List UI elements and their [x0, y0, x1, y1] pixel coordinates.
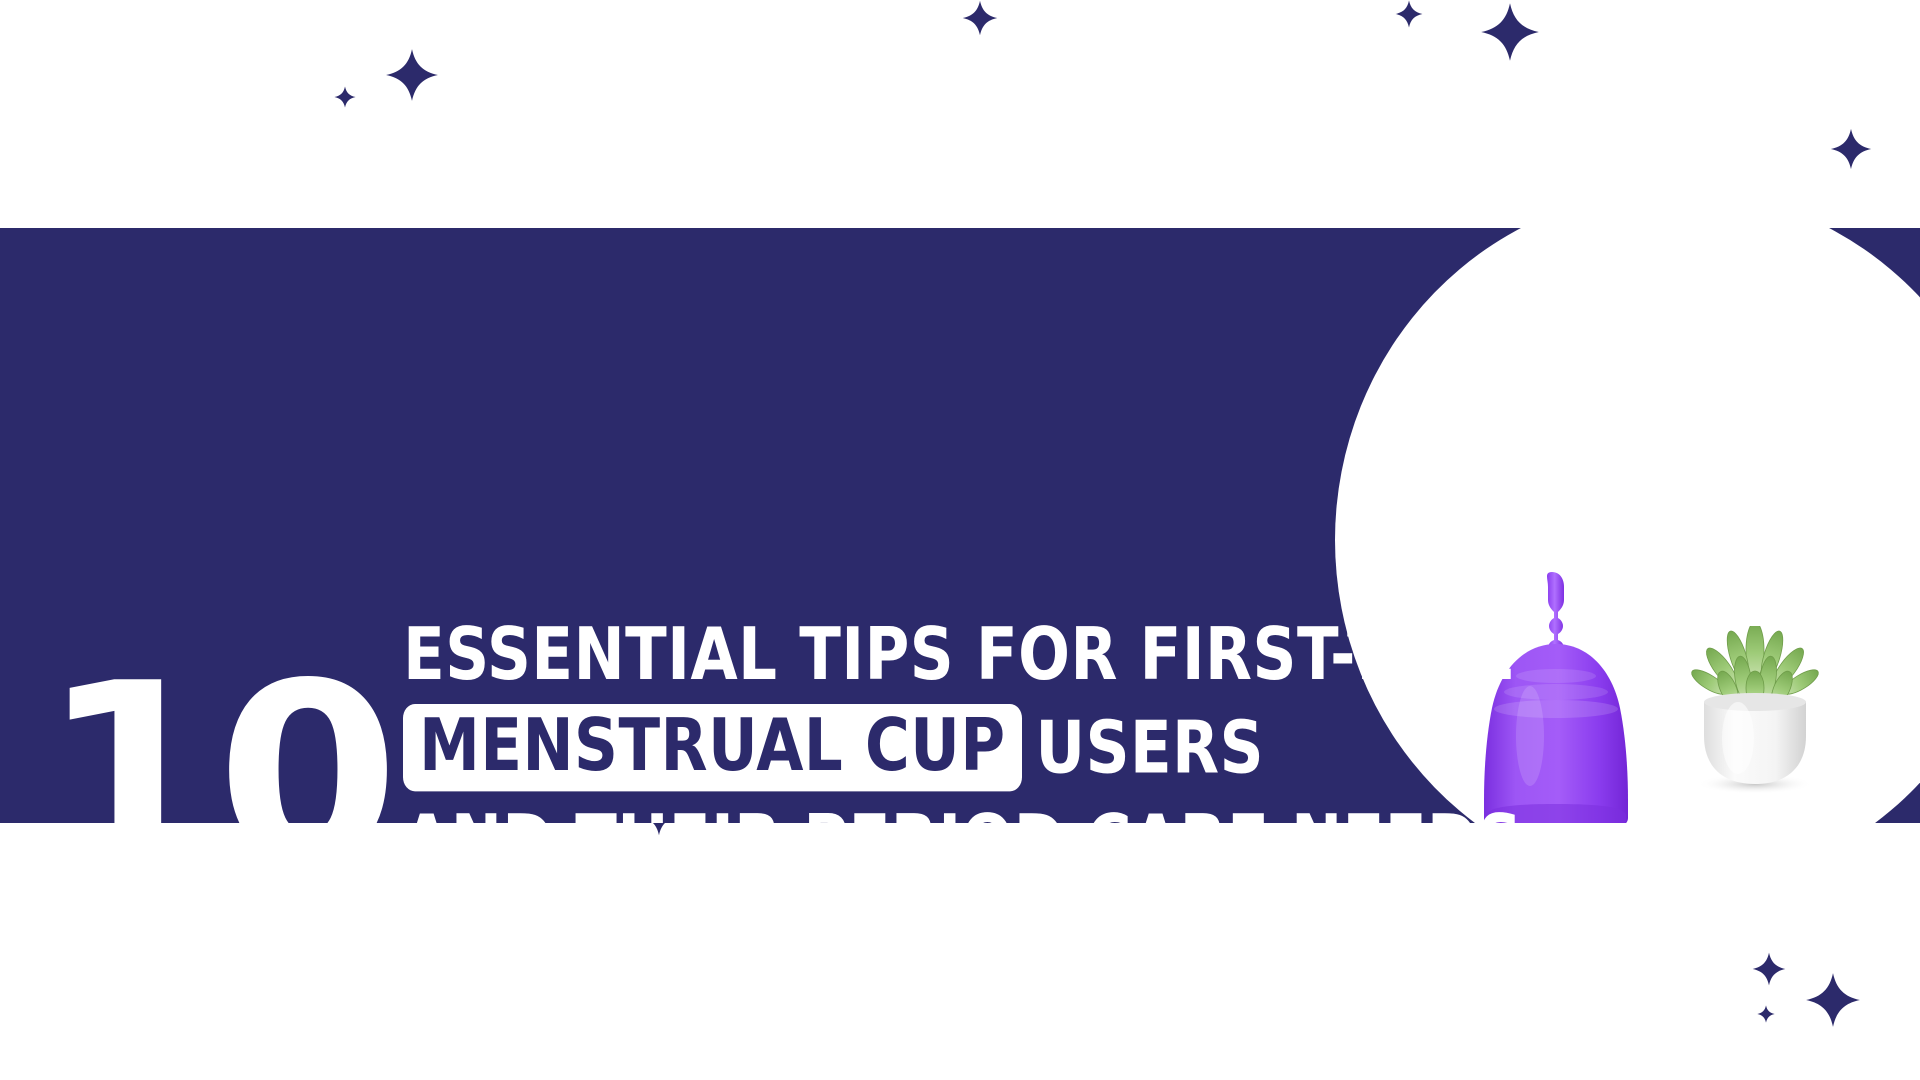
four-point-star-sparkle — [962, 0, 998, 36]
four-point-star-sparkle — [1480, 2, 1540, 62]
four-point-star-sparkle — [1830, 128, 1872, 170]
headline-highlight-chip: MENSTRUAL CUP — [403, 704, 1021, 791]
headline-block: 10 ESSENTIAL TIPS FOR FIRST-TIME MENSTRU… — [40, 558, 1360, 823]
hero-banner: 10 ESSENTIAL TIPS FOR FIRST-TIME MENSTRU… — [0, 228, 1920, 823]
headline-line-1: ESSENTIAL TIPS FOR FIRST-TIME — [403, 619, 1522, 691]
headline-line-3: AND THEIR PERIOD CARE NEEDS — [403, 806, 1522, 824]
headline-lines: ESSENTIAL TIPS FOR FIRST-TIME MENSTRUAL … — [387, 619, 1522, 824]
four-point-star-sparkle — [334, 86, 356, 108]
four-point-star-sparkle — [385, 48, 439, 102]
poster-canvas: 10 ESSENTIAL TIPS FOR FIRST-TIME MENSTRU… — [0, 0, 1920, 1080]
potted-succulent-illustration — [1680, 626, 1830, 796]
four-point-star-sparkle — [1395, 0, 1423, 28]
four-point-star-sparkle — [1757, 1005, 1775, 1023]
headline-line-2-rest: USERS — [1036, 711, 1265, 783]
headline-number: 10 — [40, 674, 393, 823]
four-point-star-sparkle — [1752, 952, 1786, 986]
headline-line-2: MENSTRUAL CUP USERS — [403, 704, 1522, 791]
four-point-star-sparkle — [1805, 972, 1861, 1028]
